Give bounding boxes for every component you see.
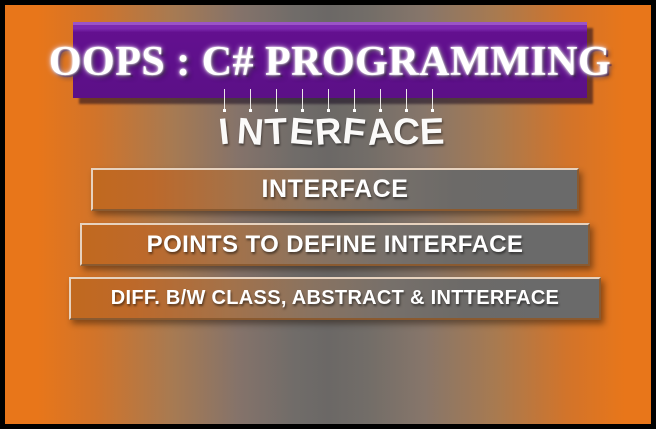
- menu-button-interface[interactable]: INTERFACE: [91, 168, 579, 211]
- string-icon: [276, 89, 277, 109]
- hanging-letter: N: [237, 89, 263, 152]
- hanging-letter: F: [341, 89, 367, 152]
- hanging-letter-glyph: T: [262, 111, 290, 152]
- slide-frame: OOPS : C# PROGRAMMING I N T: [0, 0, 656, 429]
- menu-button-label: POINTS TO DEFINE INTERFACE: [147, 231, 524, 259]
- hanging-letter-glyph: N: [236, 111, 265, 153]
- string-icon: [250, 89, 251, 109]
- slide-canvas: OOPS : C# PROGRAMMING I N T: [5, 5, 651, 424]
- menu-button-diff-class-abstract-interface[interactable]: DIFF. B/W CLASS, ABSTRACT & INTTERFACE: [69, 277, 601, 320]
- string-icon: [302, 89, 303, 109]
- hanging-letter: E: [289, 89, 315, 152]
- menu-button-points-to-define-interface[interactable]: POINTS TO DEFINE INTERFACE: [80, 223, 590, 266]
- hanging-letter-glyph: E: [418, 112, 445, 153]
- page-title: OOPS : C# PROGRAMMING: [49, 41, 611, 83]
- string-icon: [380, 89, 381, 109]
- hanging-heading-letters: I N T E: [5, 89, 651, 152]
- hanging-letter-glyph: E: [287, 111, 316, 153]
- string-icon: [432, 89, 433, 109]
- hanging-letter: A: [367, 89, 393, 152]
- menu-button-label: INTERFACE: [261, 175, 408, 204]
- string-icon: [224, 89, 225, 109]
- hanging-letter: I: [211, 89, 237, 152]
- hanging-heading: I N T E: [5, 89, 651, 151]
- title-bar: OOPS : C# PROGRAMMING: [73, 22, 587, 98]
- hanging-letter-glyph: I: [209, 111, 239, 153]
- hanging-letter: C: [393, 89, 419, 152]
- string-icon: [328, 89, 329, 109]
- string-icon: [354, 89, 355, 109]
- string-icon: [406, 89, 407, 109]
- hanging-letter-glyph: A: [365, 111, 394, 153]
- hanging-letter: E: [419, 89, 445, 152]
- hanging-letter-glyph: C: [392, 111, 420, 152]
- hanging-letter: R: [315, 89, 341, 152]
- menu-button-label: DIFF. B/W CLASS, ABSTRACT & INTTERFACE: [111, 287, 559, 310]
- hanging-letter-glyph: F: [339, 111, 369, 153]
- hanging-letter-glyph: R: [314, 111, 343, 153]
- hanging-letter: T: [263, 89, 289, 152]
